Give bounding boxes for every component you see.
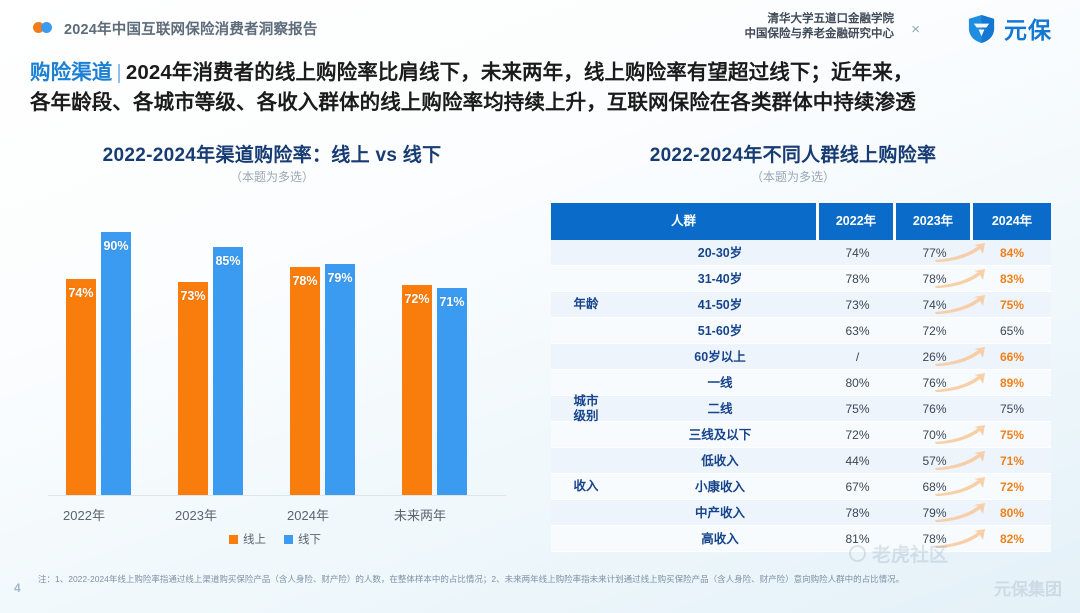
right-table-title: 2022-2024年不同人群线上购险率	[553, 140, 1033, 167]
table-value-2024: 75%	[1000, 428, 1024, 442]
table-row: 20-30岁74%77%84%	[551, 240, 1051, 266]
table-value-2024: 80%	[1000, 506, 1024, 520]
bar-value-label: 71%	[439, 295, 464, 309]
bar-offline: 85%	[213, 247, 243, 495]
demographics-table: 人群2022年2023年2024年 20-30岁74%77%84%31-40岁7…	[551, 203, 1051, 552]
table-cell-y2024: 75%	[973, 422, 1051, 448]
headline-line-2: 各年龄段、各城市等级、各收入群体的线上购险率均持续上升，互联网保险在各类群体中持…	[30, 88, 1054, 118]
table-column-header: 2022年	[819, 203, 896, 240]
table-row: 收入小康收入67%68%72%	[551, 474, 1051, 500]
yuanbao-logo-text: 元保	[1004, 11, 1052, 45]
yuanbao-logo: 元保	[966, 11, 1052, 45]
table-cell-y2022: 67%	[819, 474, 896, 500]
bar-value-label: 74%	[68, 286, 93, 300]
table-value-2024: 82%	[1000, 532, 1024, 546]
watermark-ring-icon	[849, 545, 866, 562]
table-cell-y2024: 82%	[973, 526, 1051, 552]
bar-chart-plot-area: 74%90%73%85%78%79%72%71%	[40, 196, 510, 496]
x-axis-label: 2024年	[260, 505, 356, 524]
report-brand-title: 2024年中国互联网保险消费者洞察报告	[64, 18, 318, 39]
table-row-label: 一线	[621, 370, 819, 396]
legend-swatch-icon	[284, 535, 293, 544]
bar-value-label: 85%	[215, 254, 240, 268]
x-axis-label: 2023年	[148, 505, 244, 524]
table-value-2024: 71%	[1000, 454, 1024, 468]
table-cell-y2024: 75%	[973, 292, 1051, 318]
table-row: 三线及以下72%70%75%	[551, 422, 1051, 448]
table-row: 城市级别二线75%76%75%	[551, 396, 1051, 422]
partner-line-2: 中国保险与养老金融研究中心	[745, 27, 895, 42]
headline-tag: 购险渠道	[30, 61, 112, 84]
table-row: 51-60岁63%72%65%	[551, 318, 1051, 344]
legend-item: 线下	[284, 531, 321, 547]
bar-offline: 90%	[101, 232, 131, 495]
table-value-2024: 66%	[1000, 350, 1024, 364]
table-cell-y2024: 72%	[973, 474, 1051, 500]
table-row-label: 20-30岁	[621, 240, 819, 266]
headline-text-1: 2024年消费者的线上购险率比肩线下，未来两年，线上购险率有望超过线下；近年来，	[126, 61, 914, 84]
table-cell-y2024: 66%	[973, 344, 1051, 370]
bar-offline: 79%	[325, 264, 355, 495]
bar-value-label: 73%	[180, 289, 205, 303]
bar-value-label: 90%	[103, 239, 128, 253]
table-row-label: 31-40岁	[621, 266, 819, 292]
table-cell-y2024: 83%	[973, 266, 1051, 292]
left-chart-title: 2022-2024年渠道购险率：线上 vs 线下	[32, 140, 512, 167]
chart-baseline-axis	[48, 495, 506, 496]
bar-online: 74%	[66, 279, 96, 495]
table-row: 60岁以上/26%66%	[551, 344, 1051, 370]
x-axis-label: 2022年	[36, 505, 132, 524]
table-group-label	[551, 240, 621, 266]
table-cell-y2023: 77%	[896, 240, 973, 266]
table-group-label: 年龄	[551, 292, 621, 318]
table-cell-y2024: 65%	[973, 318, 1051, 344]
bar-group: 73%85%	[166, 195, 262, 495]
table-row: 年龄41-50岁73%74%75%	[551, 292, 1051, 318]
headline: 购险渠道|2024年消费者的线上购险率比肩线下，未来两年，线上购险率有望超过线下…	[30, 58, 1054, 118]
table-group-label	[551, 266, 621, 292]
table-cell-y2023: 70%	[896, 422, 973, 448]
table-value-2024: 75%	[1000, 298, 1024, 312]
bar-value-label: 79%	[327, 271, 352, 285]
table-cell-y2023: 57%	[896, 448, 973, 474]
table-value-2024: 72%	[1000, 480, 1024, 494]
table-row: 高收入81%78%82%	[551, 526, 1051, 552]
left-chart-subtitle: （本题为多选）	[32, 168, 512, 185]
table-value-2024: 65%	[1000, 324, 1024, 338]
headline-line-1: 购险渠道|2024年消费者的线上购险率比肩线下，未来两年，线上购险率有望超过线下…	[30, 58, 1054, 88]
footnote: 注：1、2022-2024年线上购险率指通过线上渠道购买保险产品（含人身险、财产…	[38, 573, 1048, 586]
table-cell-y2024: 75%	[973, 396, 1051, 422]
table-group-label	[551, 526, 621, 552]
cross-symbol-icon: ×	[911, 21, 920, 38]
table-cell-y2023: 78%	[896, 266, 973, 292]
table-column-header: 2023年	[896, 203, 973, 240]
watermark-community: 老虎社区	[849, 540, 948, 567]
legend-label: 线上	[243, 531, 266, 547]
table-row-label: 小康收入	[621, 474, 819, 500]
table-row: 一线80%76%89%	[551, 370, 1051, 396]
channel-purchase-bar-chart: 74%90%73%85%78%79%72%71%	[40, 196, 510, 496]
table-group-label	[551, 500, 621, 526]
table-cell-y2022: /	[819, 344, 896, 370]
table-cell-y2022: 75%	[819, 396, 896, 422]
table-cell-y2023: 72%	[896, 318, 973, 344]
table-body: 20-30岁74%77%84%31-40岁78%78%83%年龄41-50岁73…	[551, 240, 1051, 552]
table-cell-y2023: 68%	[896, 474, 973, 500]
table-value-2024: 84%	[1000, 246, 1024, 260]
table-cell-y2022: 73%	[819, 292, 896, 318]
bar-online: 72%	[402, 285, 432, 495]
table-row-label: 三线及以下	[621, 422, 819, 448]
chart-x-axis-labels: 2022年2023年2024年未来两年	[40, 505, 510, 527]
table-cell-y2023: 26%	[896, 344, 973, 370]
table-row-label: 41-50岁	[621, 292, 819, 318]
legend-label: 线下	[298, 531, 321, 547]
table-group-label	[551, 422, 621, 448]
bar-online: 73%	[178, 282, 208, 495]
headline-divider: |	[112, 61, 125, 84]
table-cell-y2022: 63%	[819, 318, 896, 344]
brand-dots-icon	[33, 22, 59, 33]
table-cell-y2024: 80%	[973, 500, 1051, 526]
table-cell-y2022: 78%	[819, 266, 896, 292]
table-header-row: 人群2022年2023年2024年	[551, 203, 1051, 240]
table-cell-y2023: 76%	[896, 396, 973, 422]
table-cell-y2024: 89%	[973, 370, 1051, 396]
table-group-label: 城市级别	[551, 396, 621, 422]
bar-group: 78%79%	[278, 195, 374, 495]
table-cell-y2024: 84%	[973, 240, 1051, 266]
table-value-2024: 75%	[1000, 402, 1024, 416]
table-cell-y2023: 74%	[896, 292, 973, 318]
page-header: 2024年中国互联网保险消费者洞察报告 清华大学五道口金融学院 中国保险与养老金…	[0, 0, 1080, 52]
table-cell-y2023: 76%	[896, 370, 973, 396]
table-cell-y2022: 78%	[819, 500, 896, 526]
page-number: 4	[14, 581, 21, 595]
table-row-label: 60岁以上	[621, 344, 819, 370]
legend-swatch-icon	[229, 535, 238, 544]
table-row-label: 51-60岁	[621, 318, 819, 344]
table-cell-y2022: 44%	[819, 448, 896, 474]
table-cell-y2023: 79%	[896, 500, 973, 526]
table-column-header: 2024年	[973, 203, 1051, 240]
table-group-label	[551, 370, 621, 396]
table-cell-y2024: 71%	[973, 448, 1051, 474]
table-cell-y2022: 74%	[819, 240, 896, 266]
bar-group: 74%90%	[54, 195, 150, 495]
bar-online: 78%	[290, 267, 320, 495]
chart-legend: 线上线下	[40, 531, 510, 547]
table-group-label	[551, 344, 621, 370]
table-group-label	[551, 318, 621, 344]
table-row-label: 二线	[621, 396, 819, 422]
table-value-2024: 89%	[1000, 376, 1024, 390]
table-row-label: 低收入	[621, 448, 819, 474]
table-cell-y2022: 80%	[819, 370, 896, 396]
bar-value-label: 78%	[292, 274, 317, 288]
shield-icon	[966, 13, 997, 44]
table-value-2024: 83%	[1000, 272, 1024, 286]
watermark-community-text: 老虎社区	[872, 540, 948, 567]
table-row: 中产收入78%79%80%	[551, 500, 1051, 526]
table-row: 低收入44%57%71%	[551, 448, 1051, 474]
x-axis-label: 未来两年	[372, 505, 468, 524]
table-column-header: 人群	[551, 203, 819, 240]
partner-institution: 清华大学五道口金融学院 中国保险与养老金融研究中心	[745, 12, 895, 42]
watermark-brand: 元保集团	[994, 575, 1062, 600]
table-cell-y2022: 72%	[819, 422, 896, 448]
partner-line-1: 清华大学五道口金融学院	[745, 12, 895, 27]
bar-offline: 71%	[437, 288, 467, 495]
bar-value-label: 72%	[404, 292, 429, 306]
bar-group: 72%71%	[390, 195, 486, 495]
table-group-label	[551, 448, 621, 474]
table-group-label: 收入	[551, 474, 621, 500]
table-row-label: 高收入	[621, 526, 819, 552]
table-row: 31-40岁78%78%83%	[551, 266, 1051, 292]
table-row-label: 中产收入	[621, 500, 819, 526]
right-table-subtitle: （本题为多选）	[553, 168, 1033, 185]
legend-item: 线上	[229, 531, 266, 547]
